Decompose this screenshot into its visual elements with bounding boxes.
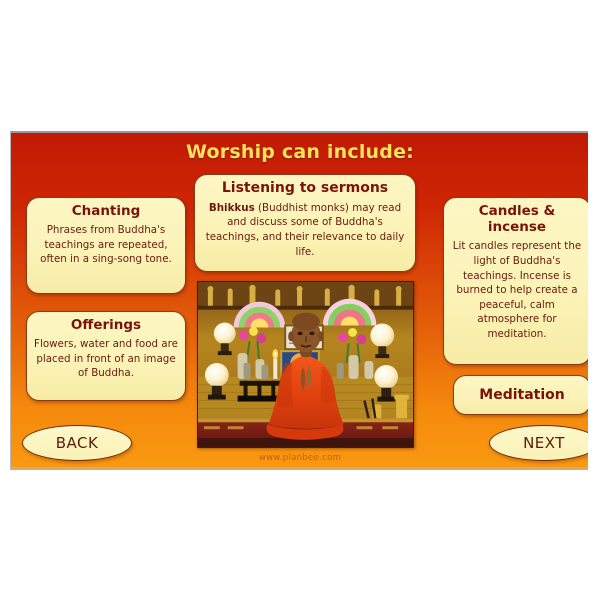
card-offerings-body: Flowers, water and food are placed in fr… — [34, 337, 178, 381]
card-sermons-body: Bhikkus (Buddhist monks) may read and di… — [202, 201, 408, 259]
next-button[interactable]: NEXT — [489, 425, 588, 461]
card-candles-title: Candles & incense — [451, 203, 583, 235]
card-sermons-title: Listening to sermons — [202, 180, 408, 197]
card-candles-body: Lit candles represent the light of Buddh… — [451, 239, 583, 341]
card-sermons-body-lead: Bhikkus — [209, 202, 255, 214]
card-meditation[interactable]: Meditation — [453, 375, 588, 415]
monk-photo — [197, 281, 414, 448]
card-offerings-title: Offerings — [34, 317, 178, 333]
card-candles-and-incense[interactable]: Candles & incense Lit candles represent … — [443, 197, 588, 365]
card-chanting-body: Phrases from Buddha's teachings are repe… — [34, 223, 178, 267]
card-chanting-title: Chanting — [34, 203, 178, 219]
monk-photo-illustration — [198, 282, 413, 447]
back-button[interactable]: BACK — [22, 425, 132, 461]
presentation-slide: Worship can include: Chanting Phrases fr… — [10, 131, 588, 470]
page-title: Worship can include: — [11, 141, 588, 163]
slide-stage: Worship can include: Chanting Phrases fr… — [0, 0, 600, 600]
card-listening-to-sermons[interactable]: Listening to sermons Bhikkus (Buddhist m… — [194, 174, 416, 272]
card-meditation-title: Meditation — [479, 387, 564, 404]
card-chanting[interactable]: Chanting Phrases from Buddha's teachings… — [26, 197, 186, 294]
card-offerings[interactable]: Offerings Flowers, water and food are pl… — [26, 311, 186, 401]
